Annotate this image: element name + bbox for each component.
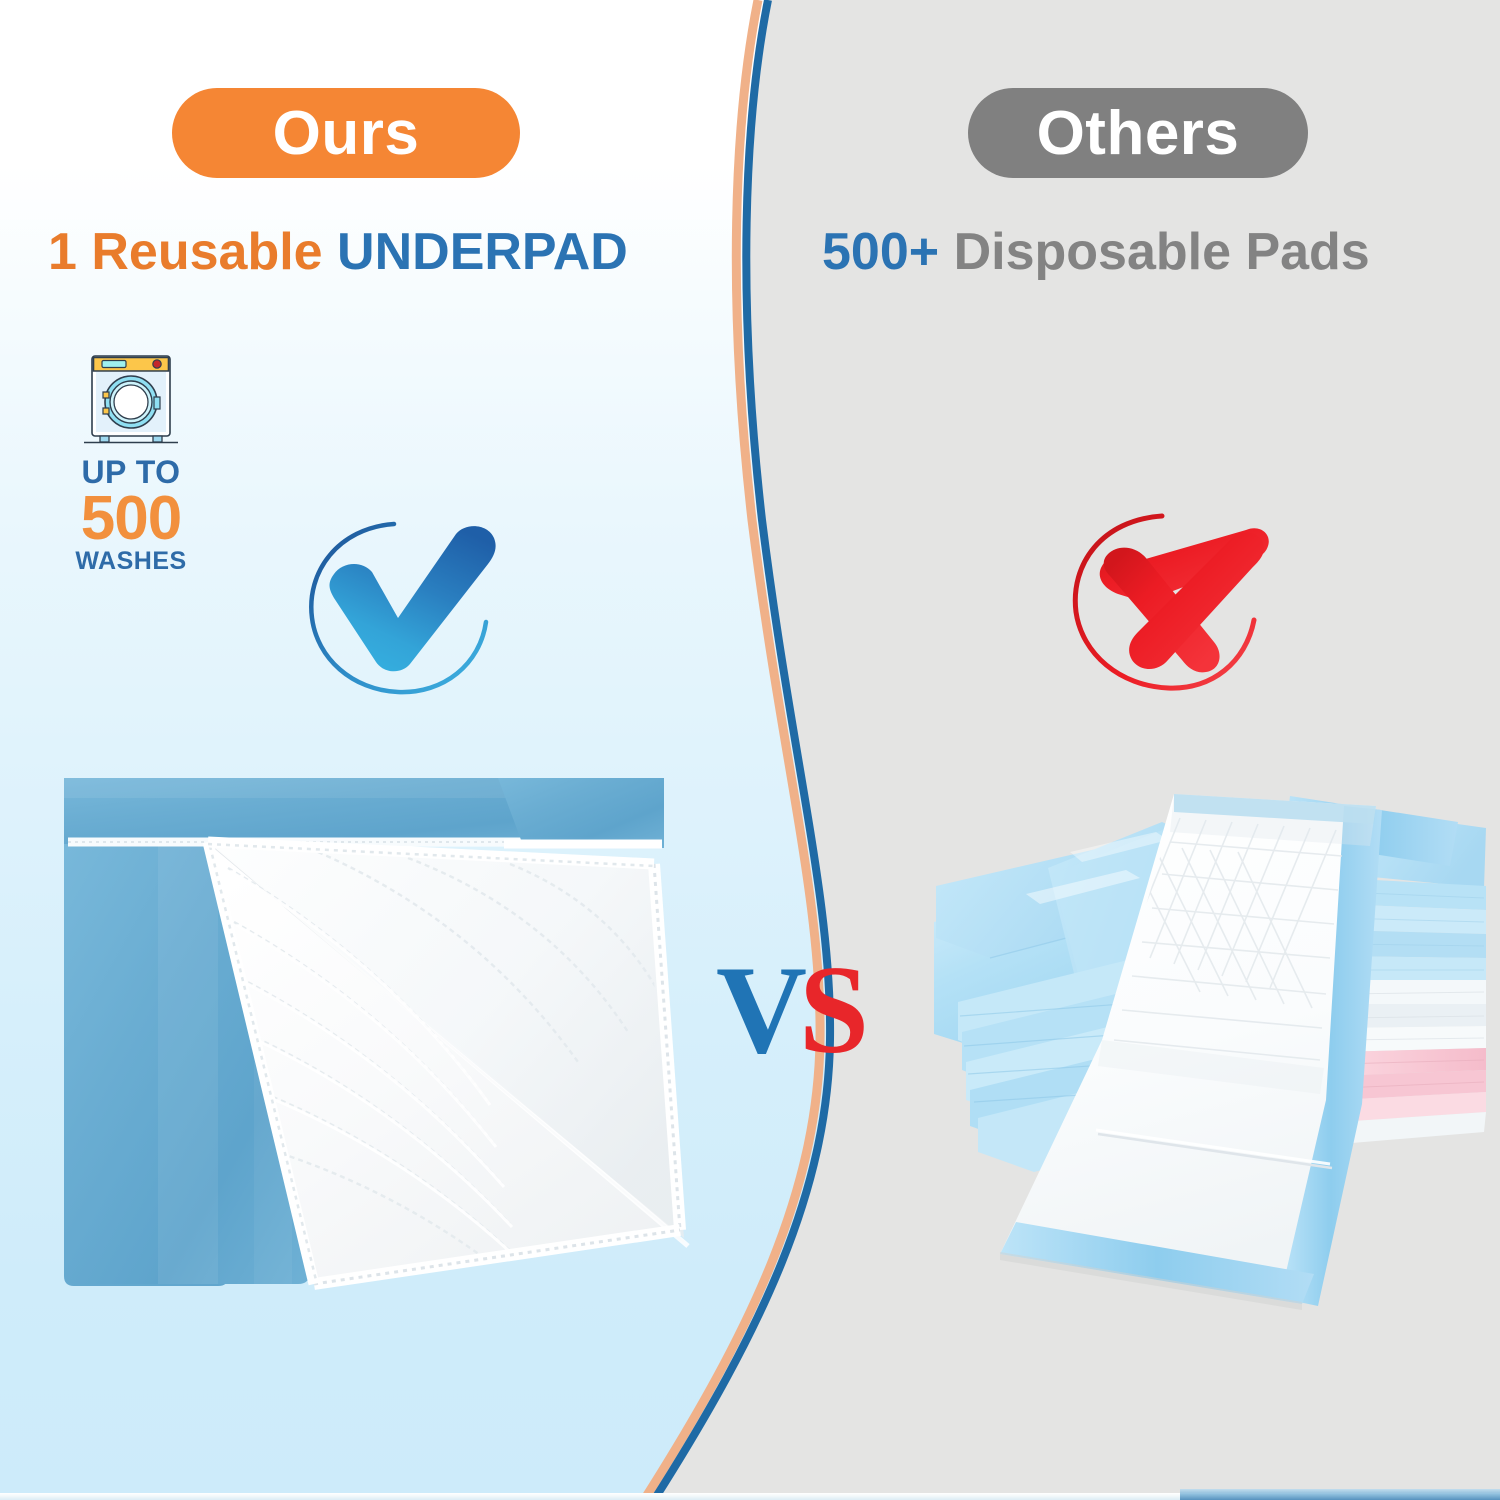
wash-count-badge: UP TO 500 WASHES — [62, 342, 200, 574]
wash-badge-line2: WASHES — [62, 549, 200, 574]
left-headline-product: UNDERPAD — [337, 223, 628, 281]
bottom-edge-blue-strip — [1180, 1489, 1500, 1500]
left-headline-count: 1 Reusable — [48, 223, 337, 281]
check-mark-icon — [298, 512, 518, 712]
right-headline: 500+ Disposable Pads — [822, 222, 1370, 282]
reusable-underpad-image — [58, 772, 696, 1290]
right-headline-product: Disposable Pads — [954, 223, 1370, 281]
versus-v: V — [716, 941, 799, 1080]
others-badge-label: Others — [1037, 98, 1240, 169]
cross-mark-icon — [1058, 502, 1288, 712]
wash-badge-number: 500 — [62, 490, 200, 547]
right-headline-count: 500+ — [822, 223, 954, 281]
disposable-pads-image — [930, 782, 1492, 1310]
others-badge: Others — [968, 88, 1308, 178]
versus-label: VS — [716, 948, 861, 1074]
washing-machine-icon — [78, 342, 184, 450]
versus-s: S — [799, 941, 861, 1080]
left-headline: 1 Reusable UNDERPAD — [48, 222, 628, 282]
ours-badge-label: Ours — [273, 98, 420, 169]
comparison-infographic: Ours Others 1 Reusable UNDERPAD 500+ Dis… — [0, 0, 1500, 1500]
ours-badge: Ours — [172, 88, 520, 178]
